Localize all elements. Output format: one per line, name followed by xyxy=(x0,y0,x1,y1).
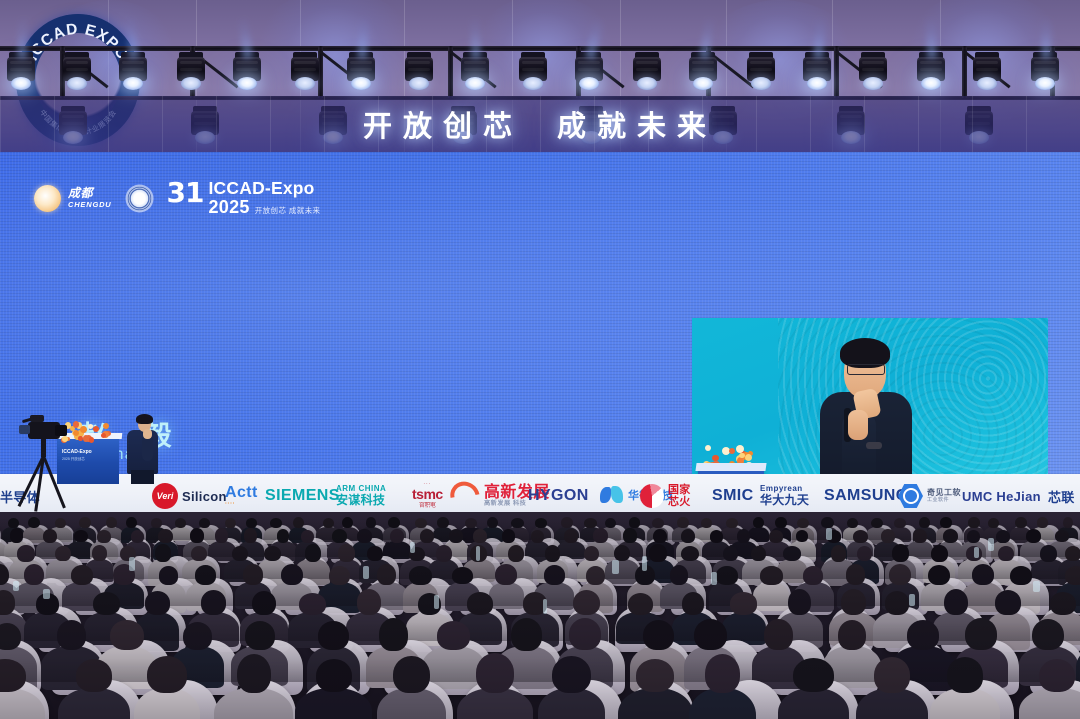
light-beam xyxy=(17,16,28,58)
flower xyxy=(712,455,718,461)
water-bottle xyxy=(1033,581,1040,592)
audience-head xyxy=(1015,517,1027,528)
sponsor-name-cn: 芯联 xyxy=(1048,487,1075,506)
audience-head xyxy=(377,564,395,585)
water-bottle xyxy=(826,528,833,540)
audience-head xyxy=(643,620,674,650)
audience-head xyxy=(552,656,591,693)
audience-head xyxy=(677,517,688,529)
audience-head xyxy=(305,544,321,561)
audience-head xyxy=(367,546,383,561)
audience-head xyxy=(338,544,355,561)
audience-head xyxy=(705,654,741,694)
audience-head xyxy=(55,546,70,562)
event-name: ICCAD-Expo xyxy=(209,180,321,198)
audience-head xyxy=(71,565,93,584)
audience-head xyxy=(881,529,895,543)
water-bottle xyxy=(543,599,547,613)
sponsor-name-en: tsmc xyxy=(412,487,443,502)
audience-head xyxy=(544,565,565,584)
audience-head xyxy=(437,621,471,650)
audience-head xyxy=(1010,566,1032,585)
water-bottle xyxy=(13,581,19,591)
audience-shoulders xyxy=(489,582,524,609)
sponsor-name-en: HYGON xyxy=(528,487,589,505)
spotlight-lens xyxy=(295,77,315,90)
broadcast-camera-icon xyxy=(14,418,70,514)
audience-head xyxy=(93,592,120,615)
sponsor-sub-cn: 工业软件 xyxy=(927,498,961,504)
spotlight-lens xyxy=(409,77,429,90)
audience-shoulders xyxy=(605,559,639,583)
audience-head xyxy=(147,656,187,693)
sponsor-name-cn-2: 芯火 xyxy=(668,496,691,508)
sponsor-logo-verisilicon: VeriSilicon xyxy=(152,483,227,509)
audience-head xyxy=(329,566,350,585)
audience-head xyxy=(874,657,909,693)
audience-head xyxy=(264,546,282,562)
audience-head xyxy=(415,518,427,528)
audience-head xyxy=(246,518,257,528)
audience-head xyxy=(151,518,163,528)
sponsor-name-en: SAMSUNG xyxy=(824,487,909,505)
water-bottle xyxy=(909,594,915,606)
audience-head xyxy=(545,545,560,562)
stage-spotlight xyxy=(802,52,832,92)
association-seal-icon xyxy=(127,186,152,211)
audience-head xyxy=(629,517,641,528)
sponsor-logo-tsmc: ···tsmc台积电 xyxy=(412,482,443,510)
audience-head xyxy=(245,621,275,651)
audience-shoulders xyxy=(170,527,191,542)
audience-head xyxy=(437,517,449,528)
audience-head xyxy=(281,564,303,585)
audience-head xyxy=(57,620,86,650)
flower xyxy=(101,433,106,438)
audience-head xyxy=(316,659,352,692)
audience-head xyxy=(857,546,872,562)
chengdu-logo: 成都 CHENGDU xyxy=(34,185,112,212)
audience-head xyxy=(43,529,57,543)
audience-head xyxy=(682,592,705,615)
sponsor-name-en: UMC HeJian xyxy=(962,489,1041,504)
flower xyxy=(93,426,99,432)
audience-head xyxy=(793,658,834,692)
stage-spotlight xyxy=(176,52,206,92)
stage-spotlight xyxy=(632,52,662,92)
spotlight-lens xyxy=(523,77,543,90)
audience-head xyxy=(871,518,883,529)
stage-spotlight xyxy=(858,52,888,92)
stage-spotlight xyxy=(688,52,718,92)
audience-head xyxy=(967,530,980,543)
stage-spotlight xyxy=(518,52,548,92)
audience-head xyxy=(996,530,1010,543)
water-bottle xyxy=(434,595,439,610)
audience-head xyxy=(535,518,548,528)
audience-head xyxy=(10,528,23,542)
water-bottle xyxy=(129,557,134,571)
audience-head xyxy=(252,591,276,615)
light-beam xyxy=(1041,16,1052,58)
audience-head xyxy=(821,517,833,529)
audience-head xyxy=(508,545,524,562)
audience-head xyxy=(487,517,498,529)
stage-spotlight xyxy=(6,52,36,92)
spotlight-lens xyxy=(11,77,31,90)
audience-head xyxy=(853,530,868,543)
audience-head xyxy=(847,518,858,529)
audience-head xyxy=(301,530,314,543)
camera-monitor xyxy=(19,425,30,434)
audience-head xyxy=(17,545,34,562)
spotlight-lens xyxy=(1035,77,1055,90)
audience-head xyxy=(126,517,136,529)
audience-head xyxy=(716,566,738,584)
audience-head xyxy=(511,618,542,650)
water-bottle xyxy=(612,560,619,574)
audience-head xyxy=(775,517,786,528)
water-bottle xyxy=(363,566,369,579)
stage-spotlight xyxy=(746,52,776,92)
sponsor-logo-smic: SMIC xyxy=(712,487,754,505)
audience-head xyxy=(145,591,170,615)
audience-head xyxy=(357,529,371,542)
banner-text-row: 开放创芯 成就未来 xyxy=(0,96,1080,152)
audience-head xyxy=(605,518,616,529)
spotlight-lens xyxy=(693,77,713,90)
audience-head xyxy=(564,529,578,542)
sponsor-logo-siemens: SIEMENS xyxy=(265,487,340,505)
flower xyxy=(729,448,735,454)
audience-head xyxy=(889,564,911,585)
audience-head xyxy=(1065,566,1080,585)
audience-head xyxy=(764,619,793,650)
water-bottle xyxy=(410,542,415,553)
audience-head xyxy=(649,544,667,562)
audience-head xyxy=(636,659,674,692)
audience-head xyxy=(195,565,217,585)
feed-presenter-hand-lower xyxy=(848,410,868,440)
spotlight-lens xyxy=(807,77,827,90)
audience-head xyxy=(623,528,637,542)
spotlight-lens xyxy=(977,77,997,90)
audience-head xyxy=(190,528,204,542)
chengdu-sunbird-icon xyxy=(34,185,61,212)
spotlight-lens xyxy=(579,77,599,90)
audience-head xyxy=(1063,517,1074,528)
chengdu-label-cn: 成都 xyxy=(68,187,112,199)
audience-shoulders xyxy=(1019,688,1080,719)
live-video-feed: 开放创芯 成就未来 Expo 集成电路设计 xyxy=(692,318,1048,474)
stage-spotlight xyxy=(346,52,376,92)
audience-head xyxy=(803,566,823,585)
light-beam xyxy=(470,16,481,58)
audience-head xyxy=(988,518,999,528)
audience-head xyxy=(907,620,939,650)
audience-head xyxy=(940,517,952,528)
stage-spotlight xyxy=(972,52,1002,92)
audience-head xyxy=(332,529,347,543)
spotlight-lens xyxy=(351,77,371,90)
stage-spotlight xyxy=(1030,52,1060,92)
slide-header: 成都 CHENGDU 31 ICCAD-Expo 2025 开放创芯 成就未来 xyxy=(34,180,320,216)
audience-head xyxy=(28,517,40,529)
expo-logo-lockup: 31 ICCAD-Expo 2025 开放创芯 成就未来 xyxy=(167,180,321,216)
audience-head xyxy=(225,518,236,529)
audience-head xyxy=(191,546,207,561)
audience-head xyxy=(788,589,811,615)
feed-backdrop-pattern xyxy=(778,318,1048,474)
audience-head xyxy=(409,566,431,585)
audience-head xyxy=(846,564,865,584)
audience-head xyxy=(270,518,282,528)
audience-head xyxy=(1037,517,1049,528)
truss-beam xyxy=(0,46,1080,51)
audience-head xyxy=(97,530,110,543)
flower xyxy=(73,421,79,427)
audience-head xyxy=(838,620,866,650)
audience-head xyxy=(318,621,349,650)
sponsor-logo-xinlian: 芯联 xyxy=(1048,487,1075,506)
audience-head xyxy=(593,528,608,543)
light-beam xyxy=(925,16,937,58)
water-bottle xyxy=(476,546,480,560)
audience-head xyxy=(323,518,334,528)
audience-head xyxy=(232,546,249,562)
event-year: 2025 xyxy=(209,198,250,216)
audience-head xyxy=(299,593,326,615)
audience-head xyxy=(201,590,227,615)
audience-head xyxy=(199,518,210,529)
audience-head xyxy=(972,564,994,585)
audience-head xyxy=(670,565,689,585)
audience-head xyxy=(131,530,144,543)
spotlight-lens xyxy=(465,77,485,90)
spotlight-lens xyxy=(637,77,657,90)
audience-head xyxy=(74,530,88,542)
audience-head xyxy=(894,518,906,529)
sponsor-logo-empyrean: Empyrean华大九天 xyxy=(760,485,809,507)
audience-head xyxy=(436,545,452,562)
flower xyxy=(739,453,744,458)
audience-head xyxy=(737,529,750,543)
audience-head xyxy=(379,618,408,650)
spotlight-lens xyxy=(921,77,941,90)
audience-head xyxy=(467,592,494,615)
audience-head xyxy=(1055,530,1069,542)
audience-head xyxy=(393,656,429,693)
sponsor-logo-hygon: HYGON xyxy=(528,487,589,505)
audience-head xyxy=(106,517,117,529)
camera-tripod-leg xyxy=(42,455,66,508)
audience-head xyxy=(726,518,738,528)
audience-head xyxy=(92,545,107,561)
audience-head xyxy=(783,546,801,561)
main-led-screen: 成都 CHENGDU 31 ICCAD-Expo 2025 开放创芯 成就未来 … xyxy=(0,152,1080,474)
sponsor-logo-qijian: 奇见工软工业软件 xyxy=(898,484,961,509)
audience-head xyxy=(760,566,782,584)
sponsor-logo-guojia-xinhuo: 国家芯火 xyxy=(640,484,691,509)
audience-head xyxy=(995,590,1022,615)
spotlight-lens xyxy=(237,77,257,90)
audience-head xyxy=(569,618,601,650)
audience-head xyxy=(495,564,517,585)
audience-head xyxy=(531,530,544,543)
banner-line-2: 成就未来 xyxy=(557,103,717,145)
audience-head xyxy=(586,566,605,585)
audience-head xyxy=(769,530,783,542)
spotlight-lens xyxy=(751,77,771,90)
audience-head xyxy=(511,518,524,528)
verisilicon-mark-icon: Veri xyxy=(152,483,178,509)
camera-hood xyxy=(30,415,44,422)
audience-head xyxy=(892,544,909,562)
stage-presenter-legs xyxy=(131,470,154,484)
audience-head xyxy=(1050,592,1076,615)
qijian-hex-icon xyxy=(898,484,923,509)
sponsor-logo-umc-hejian: UMC HeJian xyxy=(962,489,1041,504)
flower xyxy=(89,437,94,442)
audience-head xyxy=(998,546,1014,562)
huawei-butterfly-icon xyxy=(600,486,624,506)
sponsor-name-en: SMIC xyxy=(712,487,754,505)
chengdu-label-en: CHENGDU xyxy=(68,201,112,209)
stage-spotlight xyxy=(404,52,434,92)
audience-head xyxy=(751,546,766,562)
flower xyxy=(103,423,109,429)
audience-head xyxy=(653,529,667,543)
audience-head xyxy=(159,566,178,584)
spotlight-lens xyxy=(67,77,87,90)
audience-head xyxy=(723,546,739,562)
audience-head xyxy=(681,546,699,562)
stage-presenter-hand xyxy=(143,429,152,439)
water-bottle xyxy=(711,572,717,585)
audience-head xyxy=(584,546,599,562)
audience-head xyxy=(449,529,463,542)
sponsor-logo-arm-china: ARM CHINA安谋科技 xyxy=(336,485,386,507)
audience-head xyxy=(244,528,257,542)
audience-head xyxy=(24,564,44,585)
guojia-xinhuo-mark-icon xyxy=(640,484,664,508)
tsmc-mark-icon: ···tsmc台积电 xyxy=(412,482,443,510)
audience-head xyxy=(342,517,353,529)
audience-head xyxy=(1032,619,1064,650)
stage-spotlight xyxy=(62,52,92,92)
audience-head xyxy=(1065,546,1080,561)
sponsor-name-en: SIEMENS xyxy=(265,487,340,505)
audience-head xyxy=(1040,545,1057,562)
audience-head xyxy=(243,564,264,585)
audience-head xyxy=(8,518,19,528)
spotlight-lens xyxy=(863,77,883,90)
audience-head xyxy=(841,589,866,615)
sponsor-name-en: Actt xyxy=(225,484,258,502)
audience-head xyxy=(947,657,984,693)
audience-head xyxy=(652,518,664,528)
audience-head xyxy=(366,517,377,528)
audience-head xyxy=(885,591,910,615)
sponsor-name-cn: 台积电 xyxy=(419,502,436,510)
audience-head xyxy=(183,622,212,650)
audience-head xyxy=(628,593,653,615)
sponsor-name-cn: 国家 xyxy=(668,484,691,496)
audience-head xyxy=(76,659,113,692)
audience-head xyxy=(614,545,630,561)
audience-head xyxy=(215,528,228,543)
audience-head xyxy=(1026,529,1041,543)
audience-head xyxy=(175,518,186,528)
audience-head xyxy=(753,517,764,528)
audience-head xyxy=(831,545,846,561)
sponsor-logo-samsung: SAMSUNG xyxy=(824,487,909,505)
spotlight-lens xyxy=(181,77,201,90)
sponsor-name-cn: 安谋科技 xyxy=(336,494,386,507)
event-tagline: 开放创芯 成就未来 xyxy=(255,207,321,217)
audience-head xyxy=(943,529,958,543)
edition-number: 31 xyxy=(167,180,204,207)
sponsor-logo-actt: Actt···· xyxy=(225,484,258,509)
audience-head xyxy=(55,518,66,529)
audience-head xyxy=(420,529,434,543)
stage-headline-banner: 开放创芯 成就未来 xyxy=(0,96,1080,152)
audience-seating xyxy=(0,512,1080,719)
audience-shoulders xyxy=(753,582,789,611)
audience-head xyxy=(694,619,727,651)
sponsor-name-en: Silicon xyxy=(182,489,227,504)
flower xyxy=(80,426,87,433)
audience-head xyxy=(730,592,757,614)
audience-head xyxy=(452,567,474,585)
audience-head xyxy=(928,565,950,585)
audience-head xyxy=(473,529,487,543)
audience-head xyxy=(476,653,514,693)
spotlight-lens xyxy=(123,77,143,90)
water-bottle xyxy=(43,589,49,600)
audience-head xyxy=(573,590,600,616)
audience-head xyxy=(584,518,597,528)
audience-head xyxy=(155,544,170,561)
audience-head xyxy=(931,545,947,562)
water-bottle xyxy=(974,547,979,558)
audience-head xyxy=(237,654,271,693)
audience-head xyxy=(502,529,516,543)
conference-hall-photo: ICCAD EXPO 中国集成电路设计业展览会 开放创芯 成就未来 成都 CHE… xyxy=(0,0,1080,719)
feed-presenter-glasses-icon xyxy=(847,364,885,375)
audience-head xyxy=(277,529,290,542)
water-bottle xyxy=(642,556,647,571)
audience-head xyxy=(390,529,404,543)
stage-spotlight xyxy=(290,52,320,92)
sponsor-dots-icon: ···· xyxy=(225,501,258,508)
flower xyxy=(745,454,752,461)
audience-head xyxy=(701,518,712,528)
feed-podium-top xyxy=(695,463,766,471)
sponsor-name-cn: 华大九天 xyxy=(760,494,809,507)
audience-head xyxy=(710,530,723,542)
audience-head xyxy=(965,618,997,650)
audience-head xyxy=(357,589,382,615)
audience-head xyxy=(944,589,968,615)
audience-head xyxy=(681,529,695,543)
flower xyxy=(705,445,711,451)
audience-head xyxy=(158,529,173,543)
audience-head xyxy=(561,517,573,528)
audience-head xyxy=(919,517,930,528)
banner-line-1: 开放创芯 xyxy=(363,103,523,145)
audience-head xyxy=(110,620,144,650)
